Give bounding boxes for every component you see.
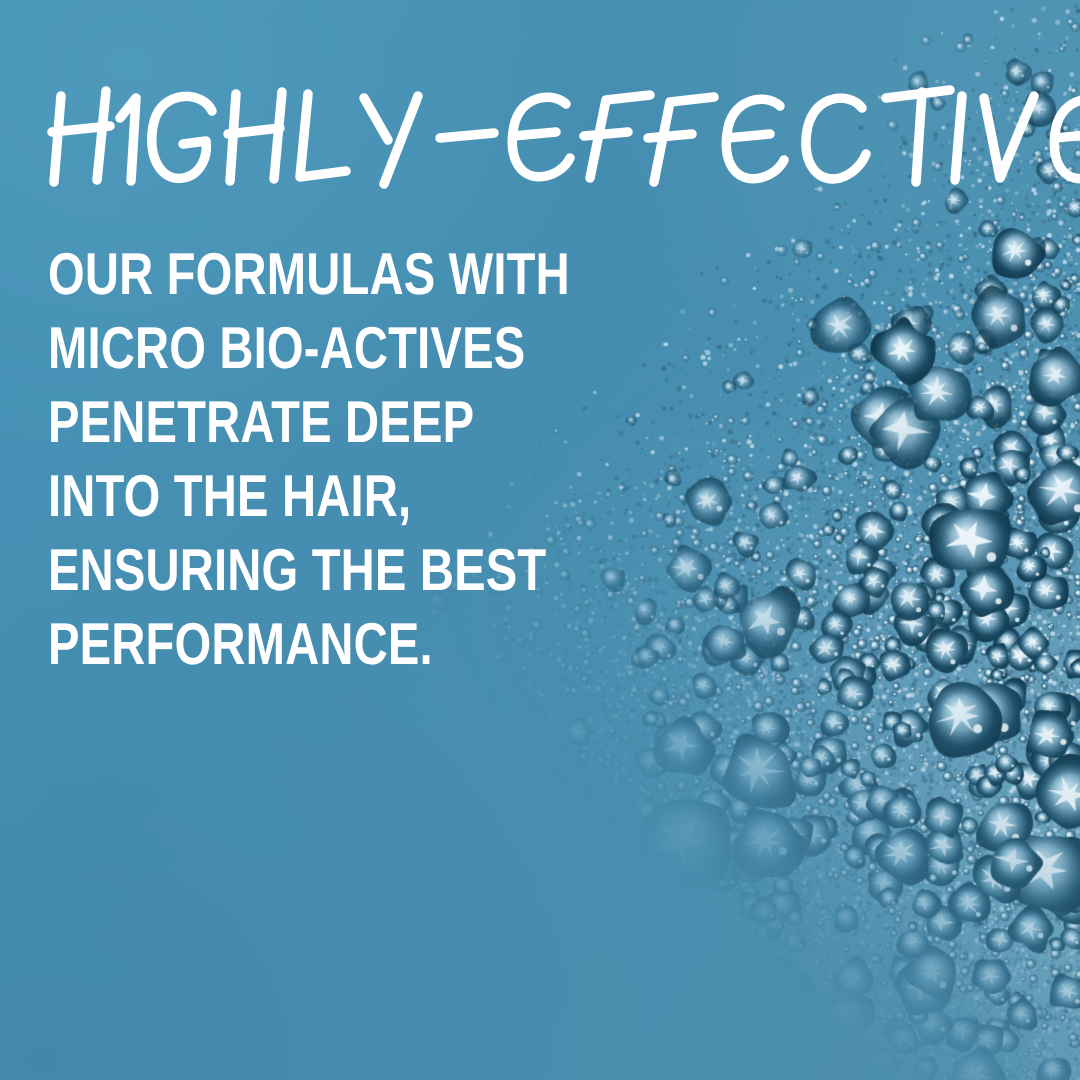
body-copy-line: ENSURING THE BEST xyxy=(48,533,496,607)
body-copy-line: PERFORMANCE. xyxy=(48,607,496,681)
body-copy-line: MICRO BIO-ACTIVES xyxy=(48,311,496,385)
body-copy-line: OUR FORMULAS WITH xyxy=(48,237,496,311)
body-copy-line: PENETRATE DEEP xyxy=(48,385,496,459)
body-copy-line: INTO THE HAIR, xyxy=(48,459,496,533)
body-copy: OUR FORMULAS WITH MICRO BIO-ACTIVES PENE… xyxy=(48,237,608,681)
page-title: HIGHLY-EFFECTIVE xyxy=(50,78,950,190)
poster-canvas: HIGHLY-EFFECTIVE xyxy=(0,0,1080,1080)
